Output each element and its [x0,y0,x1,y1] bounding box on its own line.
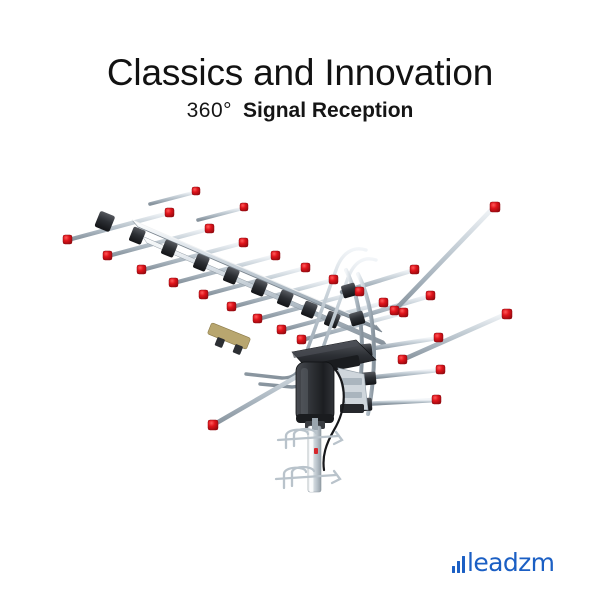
signal-bar-3 [462,556,465,573]
signal-bars-icon [452,556,465,573]
page-title: Classics and Innovation [0,52,600,93]
antenna-product-image [46,178,556,498]
subtitle-degrees: 360° [187,99,232,122]
page-subtitle: 360°Signal Reception [0,99,600,123]
subtitle-text: Signal Reception [243,99,413,122]
header-block: Classics and Innovation 360°Signal Recep… [0,52,600,124]
brand-name: leadzm [467,551,554,574]
signal-bar-2 [457,561,460,573]
product-banner-page: Classics and Innovation 360°Signal Recep… [0,0,600,600]
antenna-illustration [46,178,556,498]
balun-feed-block [207,323,250,356]
mast-red-marker [314,448,318,454]
signal-bar-1 [452,566,455,573]
brand-logo: leadzm [452,546,554,574]
